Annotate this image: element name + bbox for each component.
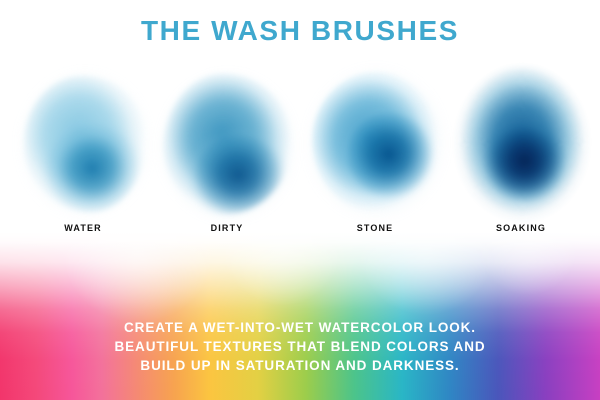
tagline-line-2: BEAUTIFUL TEXTURES THAT BLEND COLORS AND	[0, 337, 600, 356]
poster-canvas: THE WASH BRUSHES WATER WASH DIRTY WATER …	[0, 0, 600, 400]
brush-sample-dirty-water-wash[interactable]: DIRTY WATER WASH	[152, 62, 302, 237]
brush-sample-soaking-wash[interactable]: SOAKING WASH	[446, 62, 596, 237]
watercolor-blob-soaking-wash	[446, 62, 596, 222]
page-title: THE WASH BRUSHES	[0, 14, 600, 48]
watercolor-blob-dirty-water-wash	[152, 62, 302, 222]
watercolor-blob-stone-wash	[300, 62, 450, 222]
brush-sample-stone-wash[interactable]: STONE WASH	[300, 62, 450, 237]
brush-sample-water-wash[interactable]: WATER WASH	[8, 62, 158, 237]
blob-core-icon	[460, 68, 584, 218]
brush-sample-row: WATER WASH DIRTY WATER WASH STONE WASH	[0, 62, 600, 237]
watercolor-blob-water-wash	[8, 62, 158, 222]
tagline-block: CREATE A WET-INTO-WET WATERCOLOR LOOK. B…	[0, 318, 600, 375]
tagline-line-1: CREATE A WET-INTO-WET WATERCOLOR LOOK.	[0, 318, 600, 337]
tagline-line-3: BUILD UP IN SATURATION AND DARKNESS.	[0, 356, 600, 375]
blob-core-icon	[24, 76, 146, 212]
